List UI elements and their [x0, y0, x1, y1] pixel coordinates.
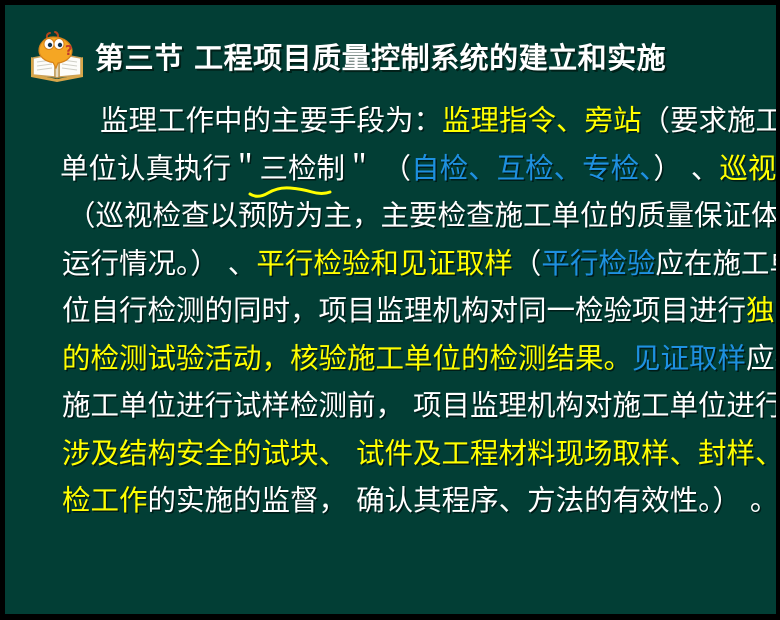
text-segment: 监理指令、旁站 — [442, 104, 642, 137]
text-segment: 检工作 — [62, 484, 148, 517]
body-line-1: 监理工作中的主要手段为：监理指令、旁站（要求施工 — [5, 97, 780, 145]
text-segment: 见证取样 — [632, 342, 746, 375]
text-segment: 平行检验和见证取样 — [256, 247, 513, 280]
text-segment: （巡视检查以预防为主，主要检查施工单位的质量保证体系 — [67, 199, 780, 232]
svg-text:?: ? — [65, 44, 73, 59]
text-segment: 监理工作中的主要手段为： — [100, 104, 442, 137]
text-segment: 单位认真执行＂三检制＂ （ — [60, 152, 411, 185]
body-line-5: 位自行检测的同时，项目监理机构对同一检验项目进行独立 — [5, 287, 780, 335]
text-segment: （要求施工 — [642, 104, 780, 137]
text-segment: 应在施工单 — [655, 247, 780, 280]
text-segment: 施工单位进行试样检测前， 项目监理机构对施工单位进行的 — [62, 389, 780, 422]
text-segment: （ — [513, 247, 542, 280]
text-segment: ） 、 — [653, 152, 719, 185]
body-line-2: 单位认真执行＂三检制＂ （自检、互检、专检、） 、巡视 — [5, 145, 780, 193]
text-segment: 平行检验 — [541, 247, 655, 280]
slide-body: 监理工作中的主要手段为：监理指令、旁站（要求施工单位认真执行＂三检制＂ （自检、… — [5, 97, 780, 525]
body-line-4: 运行情况。） 、平行检验和见证取样（平行检验应在施工单 — [5, 240, 780, 288]
body-line-7: 施工单位进行试样检测前， 项目监理机构对施工单位进行的 — [5, 382, 780, 430]
text-segment: 独立 — [746, 294, 780, 327]
text-segment: 运行情况。） 、 — [62, 247, 256, 280]
body-line-8: 涉及结构安全的试块、 试件及工程材料现场取样、封样、 送 — [5, 430, 780, 478]
page-title: 第三节 工程项目质量控制系统的建立和实施 — [95, 35, 666, 77]
text-segment: 的实施的监督， 确认其程序、方法的有效性。） 。 — [148, 484, 779, 517]
text-segment: 应在 — [746, 342, 780, 375]
text-segment: 的检测试验活动，核验施工单位的检测结果。 — [62, 342, 632, 375]
body-line-3: （巡视检查以预防为主，主要检查施工单位的质量保证体系 — [5, 192, 780, 240]
slide-canvas: ? 第三节 工程项目质量控制系统的建立和实施 监理工作中的主要手段为：监理指令、… — [0, 0, 780, 620]
book-character-icon: ? — [27, 30, 87, 82]
body-line-9: 检工作的实施的监督， 确认其程序、方法的有效性。） 。 — [5, 477, 780, 525]
text-segment: 涉及结构安全的试块、 试件及工程材料现场取样、封样、 送 — [62, 437, 780, 470]
slide-title-bar: ? 第三节 工程项目质量控制系统的建立和实施 — [5, 27, 776, 85]
body-line-6: 的检测试验活动，核验施工单位的检测结果。见证取样应在 — [5, 335, 780, 383]
text-segment: 位自行检测的同时，项目监理机构对同一检验项目进行 — [62, 294, 746, 327]
text-segment: 自检、互检、专检、 — [411, 152, 653, 185]
text-segment: 巡视 — [719, 152, 776, 185]
